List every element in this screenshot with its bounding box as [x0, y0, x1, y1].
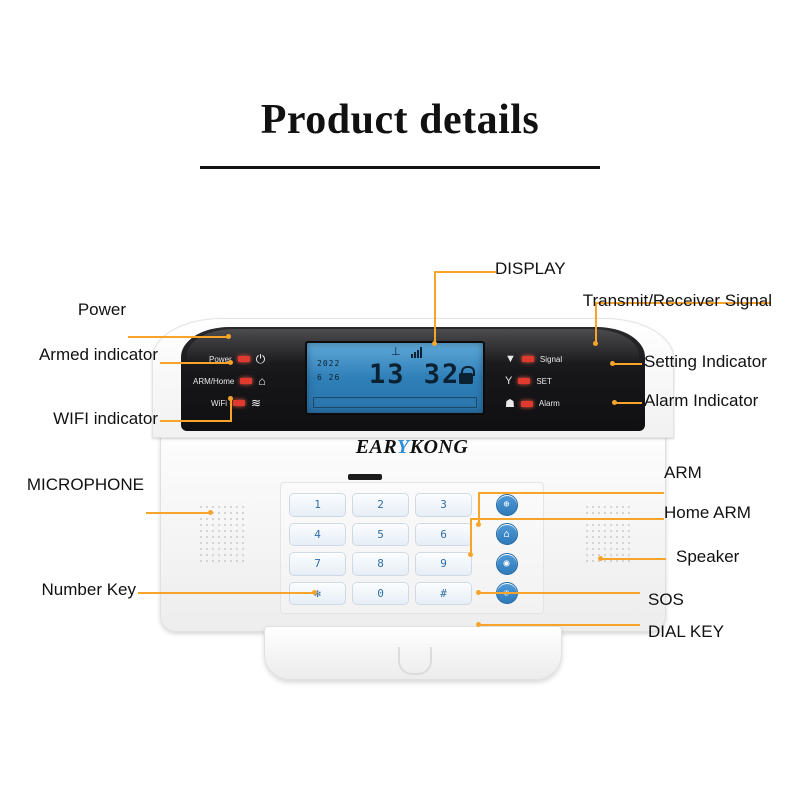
leader-armed-h	[160, 362, 230, 364]
callout-armed-indicator: Armed indicator	[39, 345, 158, 365]
wifi-icon: ≋	[251, 397, 261, 409]
leader-homearm-h	[470, 518, 664, 520]
keypad-slot	[348, 474, 382, 480]
brand-pre: EAR	[356, 436, 397, 458]
speaker-grille	[584, 504, 630, 566]
brand-logo: EARYKONG	[152, 436, 672, 459]
leader-dialkey-dot	[476, 622, 481, 627]
leader-armed-dot	[228, 360, 233, 365]
set-indicator-row: Y SET	[505, 375, 552, 387]
leader-display-h	[434, 271, 496, 273]
key-sos[interactable]: ◉	[496, 553, 518, 575]
leader-speaker-dot	[598, 556, 603, 561]
leader-setting-dot	[610, 361, 615, 366]
leader-sos-dot	[476, 590, 481, 595]
callout-number-key: Number Key	[42, 580, 136, 600]
callout-display: DISPLAY	[495, 259, 566, 279]
leader-power-dot	[226, 334, 231, 339]
title-divider	[200, 166, 600, 169]
alarm-indicator-row: ☗ Alarm	[505, 397, 560, 410]
signal-indicator-row: ▼ Signal	[505, 353, 562, 365]
signal-bars-icon	[411, 347, 422, 358]
callout-alarm-indicator: Alarm Indicator	[644, 391, 758, 411]
callout-setting-indicator: Setting Indicator	[644, 352, 767, 372]
leader-mic-h	[146, 512, 210, 514]
callout-dial-key: DIAL KEY	[648, 622, 724, 642]
leader-wifi-dot	[228, 396, 233, 401]
leader-speaker-h	[600, 558, 666, 560]
key-9[interactable]: 9	[415, 552, 472, 576]
keypad-grid: 1 2 3 ⊕ 4 5 6 ⌂ 7 8 9 ◉ ✻ 0 # ✆	[287, 491, 537, 607]
alarm-led	[521, 401, 533, 407]
set-icon: Y	[505, 375, 512, 387]
leader-homearm-v	[470, 518, 472, 554]
callout-speaker: Speaker	[676, 547, 739, 567]
wifi-led	[233, 400, 245, 406]
leader-numkey-h	[138, 592, 314, 594]
callout-arm: ARM	[664, 463, 702, 483]
callout-sos: SOS	[648, 590, 684, 610]
key-3[interactable]: 3	[415, 493, 472, 517]
armed-led	[240, 378, 252, 384]
signal-led	[522, 356, 534, 362]
callout-home-arm: Home ARM	[664, 503, 751, 523]
leader-display-dot	[432, 341, 437, 346]
power-icon: ⏻	[256, 353, 266, 365]
leader-wifi-h	[160, 420, 232, 422]
wifi-indicator-row: WiFi ≋	[211, 397, 261, 409]
leader-alarm-dot	[612, 400, 617, 405]
leader-alarm-h	[614, 402, 642, 404]
brand-mid: Y	[397, 436, 410, 458]
leader-dialkey-h	[478, 624, 640, 626]
leader-display-v	[434, 272, 436, 344]
signal-down-icon: ▼	[505, 353, 516, 365]
key-arm[interactable]: ⊕	[496, 494, 518, 516]
signal-indicator-label: Signal	[540, 355, 562, 364]
wifi-indicator-label: WiFi	[211, 399, 227, 408]
leader-mic-dot	[208, 510, 213, 515]
leader-arm-h	[478, 492, 664, 494]
key-7[interactable]: 7	[289, 552, 346, 576]
diagram-canvas: Product details 1 2 3 ⊕ 4 5 6 ⌂ 7 8 9 ◉ …	[0, 0, 800, 800]
leader-wifi-v	[230, 398, 232, 420]
lcd-year: 2022	[317, 359, 340, 368]
key-4[interactable]: 4	[289, 523, 346, 547]
device-tray	[264, 626, 562, 680]
bell-icon: ☗	[505, 397, 515, 410]
callout-power: Power	[78, 300, 126, 320]
callout-transmit-receiver-signal: Transmit/Receiver Signal	[583, 291, 772, 311]
key-0[interactable]: 0	[352, 582, 409, 606]
alarm-indicator-label: Alarm	[539, 399, 560, 408]
lock-icon	[459, 373, 473, 384]
tray-notch	[398, 647, 432, 675]
key-8[interactable]: 8	[352, 552, 409, 576]
leader-numkey-dot	[312, 590, 317, 595]
key-2[interactable]: 2	[352, 493, 409, 517]
set-indicator-label: SET	[536, 377, 552, 386]
home-icon: ⌂	[258, 375, 265, 387]
key-6[interactable]: 6	[415, 523, 472, 547]
brand-post: KONG	[410, 436, 469, 458]
key-1[interactable]: 1	[289, 493, 346, 517]
leader-homearm-dot	[468, 552, 473, 557]
lcd-display: ⊥ 2022 6 26 13 32	[305, 341, 485, 415]
callout-microphone: MICROPHONE	[27, 475, 144, 495]
callout-wifi-indicator: WIFI indicator	[53, 409, 158, 429]
lcd-date: 6 26	[317, 373, 340, 382]
lcd-time: 13 32	[369, 359, 460, 390]
leader-sos-h	[478, 592, 640, 594]
key-home-arm[interactable]: ⌂	[496, 523, 518, 545]
keypad: 1 2 3 ⊕ 4 5 6 ⌂ 7 8 9 ◉ ✻ 0 # ✆	[280, 482, 544, 614]
page-title: Product details	[0, 96, 800, 144]
key-5[interactable]: 5	[352, 523, 409, 547]
leader-arm-dot	[476, 522, 481, 527]
leader-setting-h	[612, 363, 642, 365]
antenna-icon: ⊥	[391, 345, 401, 358]
leader-signal-dot	[593, 341, 598, 346]
lcd-status-bar	[313, 397, 477, 408]
key-hash[interactable]: #	[415, 582, 472, 606]
leader-power-h	[128, 336, 228, 338]
power-led	[238, 356, 250, 362]
armed-indicator-row: ARM/Home ⌂	[193, 375, 266, 387]
armed-indicator-label: ARM/Home	[193, 377, 234, 386]
set-led	[518, 378, 530, 384]
